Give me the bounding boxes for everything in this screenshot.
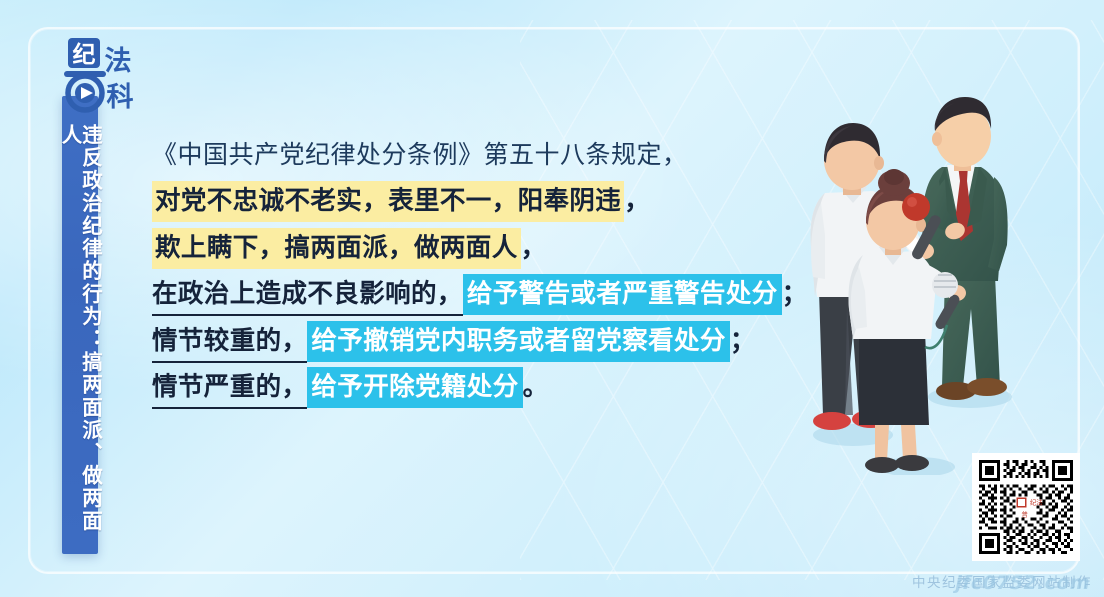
penalty-condition-2: 情节较重的， [152,326,307,363]
svg-text:科: 科 [107,82,134,113]
penalty-line-3: 情节严重的，给予开除党籍处分。 [152,375,842,401]
svg-text:纪法: 纪法 [1030,497,1043,506]
vertical-title-banner: 违反政治纪律的行为：搞两面派、做两面人 [62,96,98,554]
penalty-punct-1: ； [782,279,808,309]
penalty-punct-3: 。 [523,372,549,402]
regulation-intro-line: 《中国共产党纪律处分条例》第五十八条规定， [152,142,842,167]
vertical-title-text: 违反政治纪律的行为：搞两面派、做两面人 [60,124,101,554]
penalty-punct-2: ； [730,326,756,356]
violation-line-2: 欺上瞒下，搞两面派，做两面人， [152,236,842,262]
regulation-text-block: 《中国共产党纪律处分条例》第五十八条规定， 对党不忠诚不老实，表里不一，阳奉阴违… [152,142,842,401]
penalty-line-1: 在政治上造成不良影响的，给予警告或者严重警告处分； [152,282,842,308]
penalty-condition-1: 在政治上造成不良影响的， [152,279,463,316]
qr-code[interactable]: 纪法 普 [972,453,1080,561]
penalty-line-2: 情节较重的，给予撤销党内职务或者留党察看处分； [152,329,842,355]
violation-text-1: 对党不忠诚不老实，表里不一，阳奉阴违 [152,181,624,222]
penalty-condition-3: 情节严重的， [152,372,307,409]
penalty-result-2: 给予撤销党内职务或者留党察看处分 [307,321,729,362]
violation-text-2: 欺上瞒下，搞两面派，做两面人 [152,228,521,269]
violation-line-1: 对党不忠诚不老实，表里不一，阳奉阴违， [152,189,842,215]
svg-text:法: 法 [105,46,132,77]
watermark-text: jfc0752.com [955,572,1090,594]
violation-punct-2: ， [521,233,547,263]
brand-logo: 纪 法 科 [56,36,148,116]
violation-punct-1: ， [624,186,650,216]
penalty-result-3: 给予开除党籍处分 [307,367,522,408]
poster-root: 纪 法 科 违反政治纪律的行为：搞两面派、做两面人 《中国共产党纪律处分条例》第… [0,0,1104,597]
regulation-source: 《中国共产党纪律处分条例》第五十八条规定， [152,140,688,169]
svg-text:普: 普 [1021,509,1028,518]
penalty-result-1: 给予警告或者严重警告处分 [463,274,782,315]
svg-text:纪: 纪 [73,41,96,68]
